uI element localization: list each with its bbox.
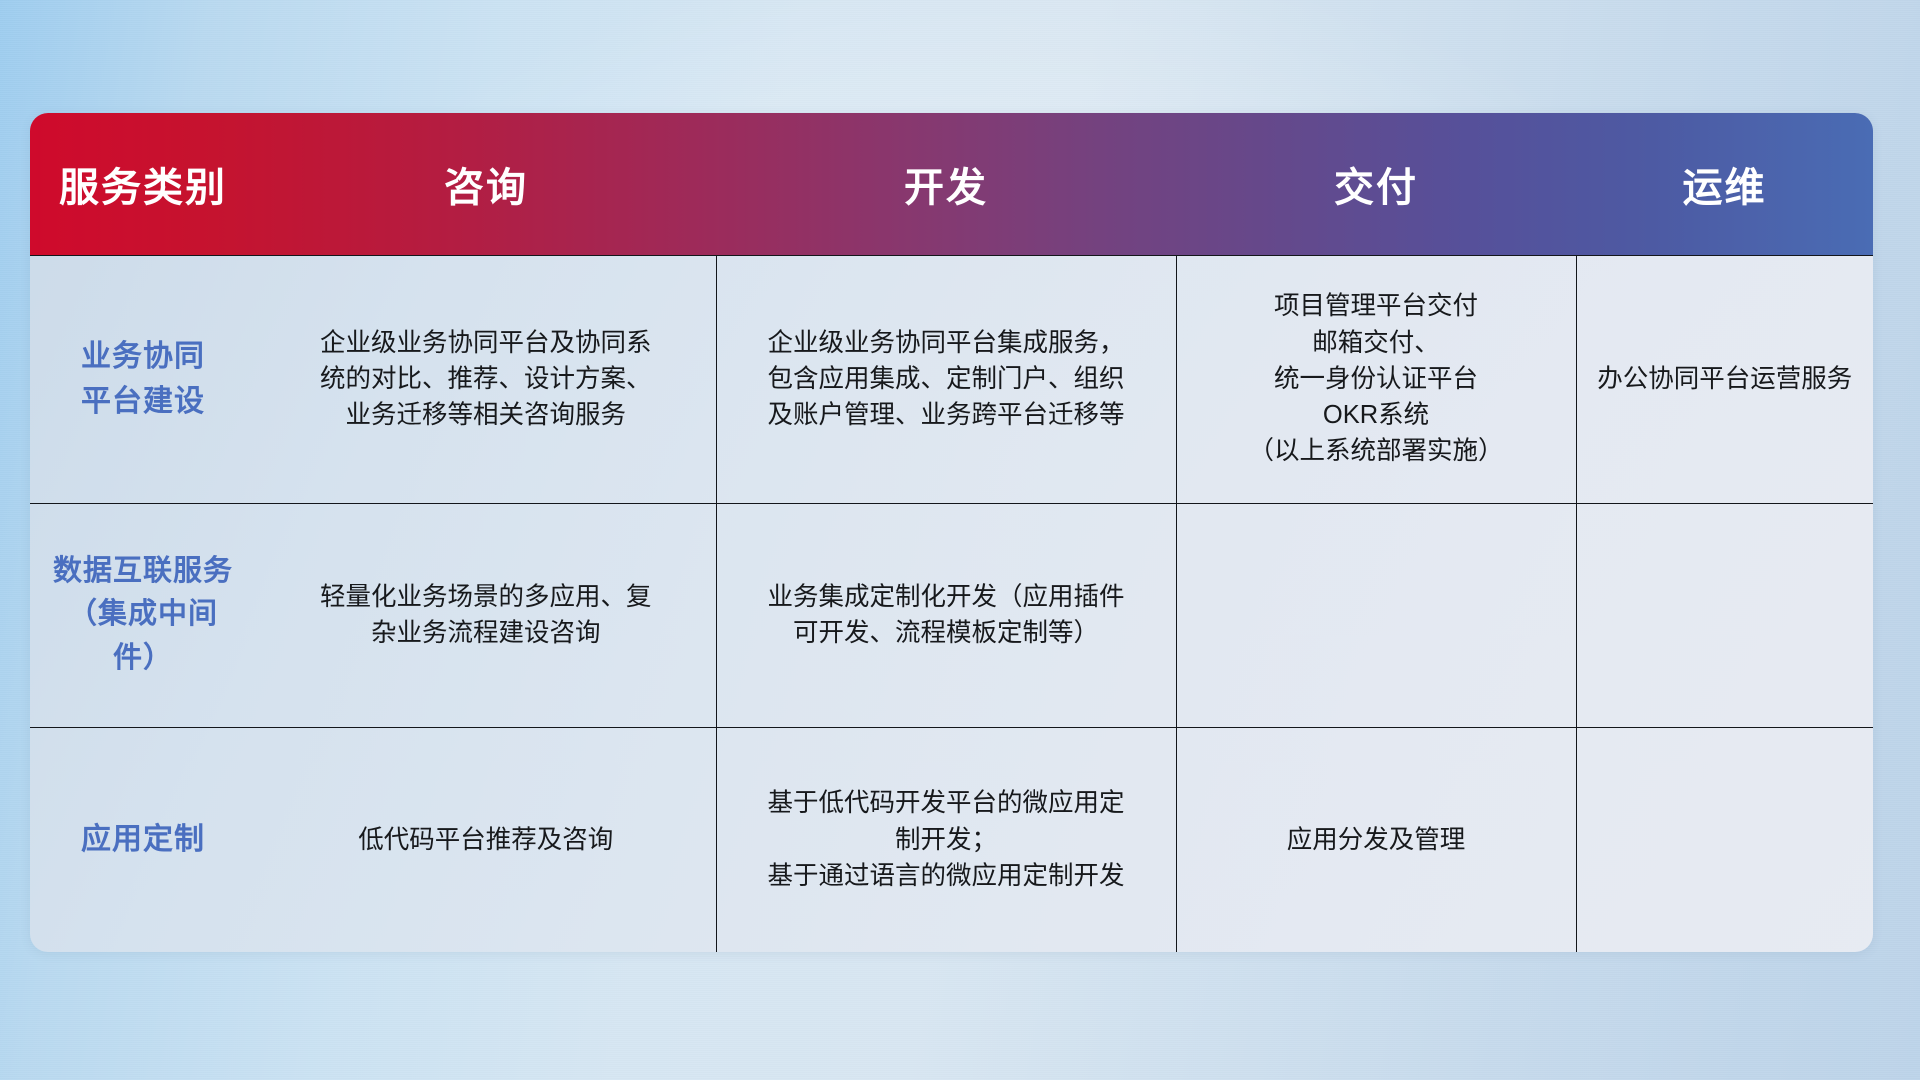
table-row: 数据互联服务 （集成中间件） 轻量化业务场景的多应用、复 杂业务流程建设咨询 业… <box>30 503 1873 727</box>
service-matrix-table: 服务类别 咨询 开发 交付 运维 业务协同 平台建设 <box>30 113 1873 952</box>
header-cell-consulting: 咨询 <box>256 113 716 255</box>
table-body: 业务协同 平台建设 企业级业务协同平台及协同系 统的对比、推荐、设计方案、 业务… <box>30 255 1873 952</box>
cell-operations <box>1576 503 1873 727</box>
cell-delivery: 项目管理平台交付 邮箱交付、 统一身份认证平台 OKR系统 （以上系统部署实施） <box>1176 255 1576 503</box>
cell-operations: 办公协同平台运营服务 <box>1576 255 1873 503</box>
header-label-operations: 运维 <box>1576 155 1873 213</box>
cell-consulting: 企业级业务协同平台及协同系 统的对比、推荐、设计方案、 业务迁移等相关咨询服务 <box>256 255 716 503</box>
cell-text: 业务集成定制化开发（应用插件 可开发、流程模板定制等） <box>733 579 1160 651</box>
table-row: 应用定制 低代码平台推荐及咨询 基于低代码开发平台的微应用定 制开发； 基于通过… <box>30 727 1873 952</box>
header-label-development: 开发 <box>716 155 1176 213</box>
service-matrix-table-container: 服务类别 咨询 开发 交付 运维 业务协同 平台建设 <box>30 113 1873 952</box>
cell-text: 低代码平台推荐及咨询 <box>272 822 700 858</box>
cell-development: 基于低代码开发平台的微应用定 制开发； 基于通过语言的微应用定制开发 <box>716 727 1176 952</box>
header-cell-category: 服务类别 <box>30 113 256 255</box>
table-row: 业务协同 平台建设 企业级业务协同平台及协同系 统的对比、推荐、设计方案、 业务… <box>30 255 1873 503</box>
cell-consulting: 轻量化业务场景的多应用、复 杂业务流程建设咨询 <box>256 503 716 727</box>
table-header: 服务类别 咨询 开发 交付 运维 <box>30 113 1873 255</box>
cell-delivery <box>1176 503 1576 727</box>
header-label-delivery: 交付 <box>1176 155 1576 213</box>
cell-text: 企业级业务协同平台及协同系 统的对比、推荐、设计方案、 业务迁移等相关咨询服务 <box>272 325 700 434</box>
header-cell-development: 开发 <box>716 113 1176 255</box>
row-category-label: 数据互联服务 （集成中间件） <box>30 503 256 727</box>
header-row: 服务类别 咨询 开发 交付 运维 <box>30 113 1873 255</box>
row-category-label: 应用定制 <box>30 727 256 952</box>
cell-text: 应用分发及管理 <box>1193 822 1560 858</box>
cell-text: 企业级业务协同平台集成服务， 包含应用集成、定制门户、组织 及账户管理、业务跨平… <box>733 325 1160 434</box>
header-label-consulting: 咨询 <box>256 155 716 213</box>
cell-text: 办公协同平台运营服务 <box>1593 361 1858 397</box>
cell-operations <box>1576 727 1873 952</box>
cell-consulting: 低代码平台推荐及咨询 <box>256 727 716 952</box>
cell-text: 应用定制 <box>46 817 240 862</box>
cell-text: 基于低代码开发平台的微应用定 制开发； 基于通过语言的微应用定制开发 <box>733 785 1160 894</box>
header-cell-operations: 运维 <box>1576 113 1873 255</box>
cell-development: 企业级业务协同平台集成服务， 包含应用集成、定制门户、组织 及账户管理、业务跨平… <box>716 255 1176 503</box>
cell-text: 轻量化业务场景的多应用、复 杂业务流程建设咨询 <box>272 579 700 651</box>
header-label-category: 服务类别 <box>30 155 256 213</box>
cell-delivery: 应用分发及管理 <box>1176 727 1576 952</box>
cell-text: 业务协同 平台建设 <box>46 334 240 424</box>
cell-development: 业务集成定制化开发（应用插件 可开发、流程模板定制等） <box>716 503 1176 727</box>
row-category-label: 业务协同 平台建设 <box>30 255 256 503</box>
cell-text: 项目管理平台交付 邮箱交付、 统一身份认证平台 OKR系统 （以上系统部署实施） <box>1193 288 1560 469</box>
header-cell-delivery: 交付 <box>1176 113 1576 255</box>
cell-text: 数据互联服务 （集成中间件） <box>46 550 240 681</box>
